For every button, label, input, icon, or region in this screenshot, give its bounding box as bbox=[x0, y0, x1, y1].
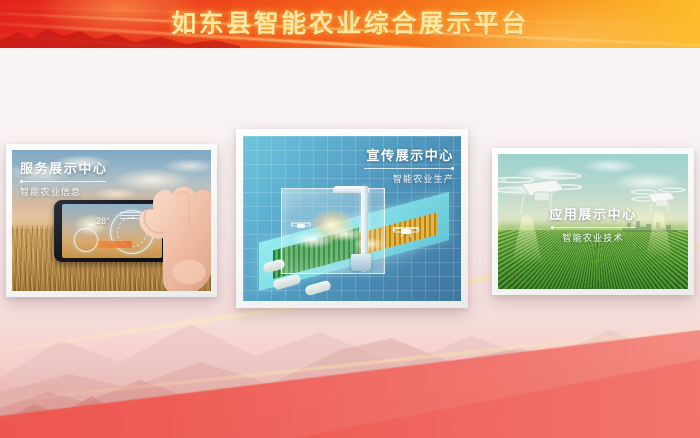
caption-divider bbox=[20, 181, 106, 182]
caption-divider bbox=[364, 168, 454, 169]
card-service-display-center[interactable]: 28° bbox=[6, 144, 217, 297]
card-app-caption: 应用展示中心 智能农业技术 bbox=[492, 204, 694, 244]
card-app-title: 应用展示中心 bbox=[492, 204, 694, 223]
drone-icon-right bbox=[391, 224, 421, 239]
phone-temperature-readout: 28° bbox=[96, 216, 110, 226]
hand-icon bbox=[131, 176, 211, 291]
caption-divider bbox=[551, 227, 635, 228]
header-banner: 如东县智能农业综合展示平台 bbox=[0, 0, 700, 48]
card-service-title: 服务展示中心 bbox=[20, 158, 108, 177]
phone-status-chip bbox=[98, 241, 132, 248]
card-promotion-display-center[interactable]: 宣传展示中心 智能农业生产 bbox=[236, 129, 468, 308]
card-service-caption: 服务展示中心 智能农业信息 bbox=[20, 158, 108, 198]
phone-dial-hud-icon bbox=[74, 228, 98, 252]
card-promo-title: 宣传展示中心 bbox=[364, 145, 454, 164]
card-service-subtitle: 智能农业信息 bbox=[20, 185, 108, 198]
drone-icon-left bbox=[289, 220, 313, 232]
card-app-subtitle: 智能农业技术 bbox=[492, 231, 694, 244]
card-promo-subtitle: 智能农业生产 bbox=[364, 172, 454, 185]
app-root: 如东县智能农业综合展示平台 28° bbox=[0, 0, 700, 438]
iso-water-tank bbox=[351, 254, 371, 271]
page-title: 如东县智能农业综合展示平台 bbox=[0, 0, 700, 48]
card-application-display-center[interactable]: 应用展示中心 智能农业技术 bbox=[492, 148, 694, 295]
card-promo-caption: 宣传展示中心 智能农业生产 bbox=[364, 145, 454, 185]
